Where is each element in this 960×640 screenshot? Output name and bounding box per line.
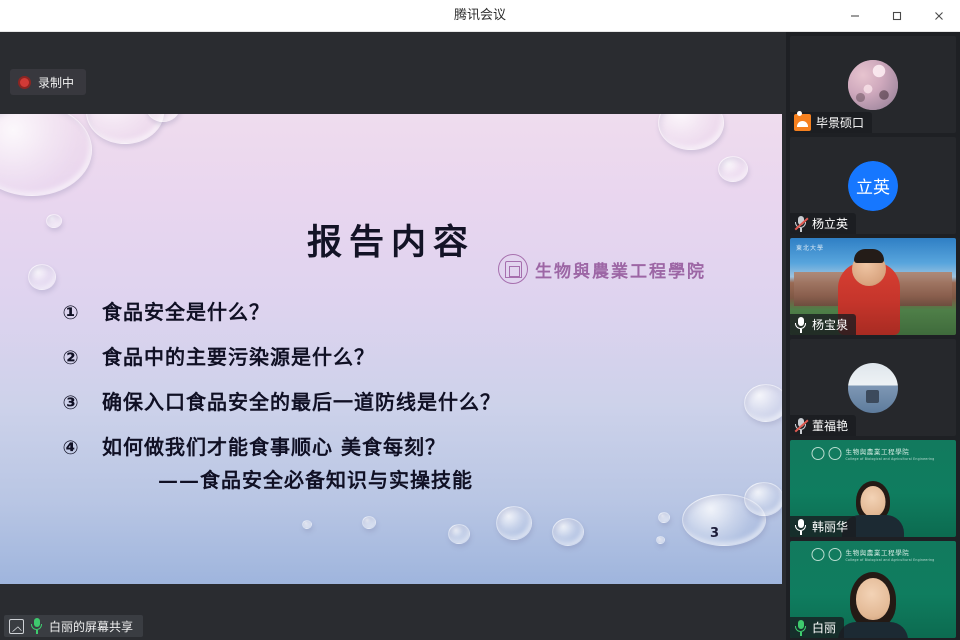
screen-share-icon — [9, 619, 24, 634]
droplet-decoration — [28, 264, 56, 290]
slide-list-item-text: 确保入口食品安全的最后一道防线是什么？ — [102, 386, 501, 415]
participant-tile[interactable]: 毕景硕口 — [790, 36, 956, 133]
participant-name-bar: 杨立英 — [790, 213, 856, 234]
slide-list-item-number: ④ — [58, 437, 84, 459]
record-dot-icon — [18, 76, 31, 89]
slide-list-item-number: ① — [58, 302, 84, 324]
slide-list-item-text: 食品安全是什么？ — [102, 296, 270, 325]
slide-subtitle: ——食品安全必备知识与实操技能 — [158, 464, 473, 493]
participant-tile[interactable]: 生物與農業工程學院 College of Biological and Agri… — [790, 440, 956, 537]
mic-muted-icon — [794, 418, 807, 434]
droplet-decoration — [552, 518, 584, 546]
host-badge-icon — [794, 114, 811, 131]
droplet-decoration — [744, 482, 782, 516]
mic-icon — [794, 519, 807, 535]
slide-list-item-text: 食品中的主要污染源是什么？ — [102, 341, 375, 370]
mic-muted-icon — [794, 216, 807, 232]
slide-list-item-number: ② — [58, 347, 84, 369]
participant-tile[interactable]: 生物與農業工程學院 College of Biological and Agri… — [790, 541, 956, 638]
recording-indicator[interactable]: 录制中 — [10, 69, 86, 95]
minimize-button[interactable] — [834, 0, 876, 32]
avatar-initials: 立英 — [848, 161, 898, 211]
participant-name: 董福艳 — [812, 417, 848, 434]
shared-screen-stage[interactable]: 录制中 — [0, 32, 786, 640]
window-controls — [834, 0, 960, 32]
droplet-decoration — [658, 512, 670, 523]
virtual-background-cn: 生物與農業工程學院 — [846, 446, 935, 456]
droplet-decoration — [496, 506, 532, 540]
screen-share-label: 白丽的屏幕共享 — [49, 618, 133, 635]
droplet-decoration — [0, 114, 92, 196]
virtual-background-en: College of Biological and Agricultural E… — [846, 457, 935, 461]
slide-list-item: ② 食品中的主要污染源是什么？ — [58, 341, 718, 370]
participant-name-bar: 毕景硕口 — [790, 112, 872, 133]
droplet-decoration — [302, 520, 312, 529]
close-button[interactable] — [918, 0, 960, 32]
participant-name-bar: 杨宝泉 — [790, 314, 856, 335]
avatar: 立英 — [848, 161, 898, 211]
maximize-icon — [891, 10, 903, 22]
participants-rail[interactable]: 毕景硕口 立英 杨立英 東北大學 — [786, 32, 960, 640]
participant-name: 毕景硕口 — [816, 114, 864, 131]
college-seal-icon — [812, 548, 825, 561]
slide-page-number: 3 — [710, 526, 719, 541]
tencent-meeting-window: 腾讯会议 — [0, 0, 960, 640]
avatar — [848, 60, 898, 110]
participant-name: 白丽 — [812, 619, 836, 636]
slide-list-item-number: ③ — [58, 392, 84, 414]
recording-label: 录制中 — [38, 74, 74, 91]
mic-icon — [794, 317, 807, 333]
maximize-button[interactable] — [876, 0, 918, 32]
slide-list-item-text: 如何做我们才能食事顺心 美食每刻？ — [102, 431, 446, 460]
virtual-background-logo: 生物與農業工程學院 College of Biological and Agri… — [812, 547, 935, 562]
slide-list-item: ③ 确保入口食品安全的最后一道防线是什么？ — [58, 386, 718, 415]
participant-name-bar: 白丽 — [790, 617, 844, 638]
title-bar: 腾讯会议 — [0, 0, 960, 32]
participant-name: 杨宝泉 — [812, 316, 848, 333]
droplet-decoration — [448, 524, 470, 544]
virtual-background-logo: 生物與農業工程學院 College of Biological and Agri… — [812, 446, 935, 461]
mic-on-icon — [30, 618, 43, 634]
virtual-background-cn: 生物與農業工程學院 — [846, 547, 935, 557]
participant-tile[interactable]: 東北大學 杨宝泉 — [790, 238, 956, 335]
minimize-icon — [849, 10, 861, 22]
slide-list-item: ④ 如何做我们才能食事顺心 美食每刻？ — [58, 431, 718, 460]
slide-list-item: ① 食品安全是什么？ — [58, 296, 718, 325]
participant-tile[interactable]: 董福艳 — [790, 339, 956, 436]
video-watermark: 東北大學 — [796, 243, 824, 252]
participant-name-bar: 韩丽华 — [790, 516, 856, 537]
screen-share-bar: 白丽的屏幕共享 — [0, 612, 786, 640]
close-icon — [933, 10, 945, 22]
droplet-decoration — [656, 536, 665, 544]
droplet-decoration — [658, 114, 724, 150]
presentation-slide: 生物與農業工程學院 报告内容 ① 食品安全是什么？ ② 食品中的主要污染源是什么… — [0, 114, 782, 584]
droplet-decoration — [718, 156, 748, 182]
slide-content-list: ① 食品安全是什么？ ② 食品中的主要污染源是什么？ ③ 确保入口食品安全的最后… — [58, 296, 718, 476]
avatar — [848, 363, 898, 413]
meeting-body: 录制中 — [0, 32, 960, 640]
participant-video-person — [836, 572, 910, 638]
virtual-background-en: College of Biological and Agricultural E… — [846, 558, 935, 562]
college-seal-icon — [812, 447, 825, 460]
participant-name: 杨立英 — [812, 215, 848, 232]
participant-name: 韩丽华 — [812, 518, 848, 535]
participant-tile[interactable]: 立英 杨立英 — [790, 137, 956, 234]
slide-title: 报告内容 — [0, 214, 782, 265]
screen-share-chip[interactable]: 白丽的屏幕共享 — [4, 615, 143, 637]
participant-name-bar: 董福艳 — [790, 415, 856, 436]
participant-video-person — [852, 252, 886, 286]
college-seal-icon — [829, 447, 842, 460]
droplet-decoration — [744, 384, 782, 422]
droplet-decoration — [362, 516, 376, 529]
college-seal-icon — [829, 548, 842, 561]
window-title: 腾讯会议 — [0, 0, 960, 32]
mic-on-icon — [794, 620, 807, 636]
